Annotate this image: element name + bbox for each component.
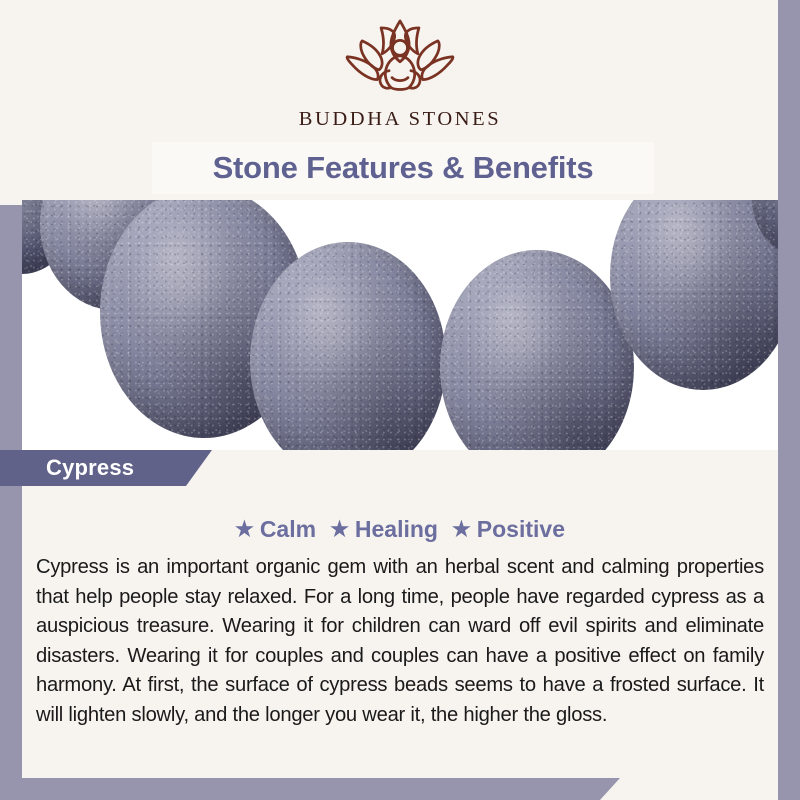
keyword-label: Calm xyxy=(260,516,316,543)
bead xyxy=(440,250,634,450)
keyword-label: Positive xyxy=(477,516,565,543)
keyword-calm: ★ Calm xyxy=(235,516,316,543)
frame-bar-bottom xyxy=(0,778,620,800)
page-title: Stone Features & Benefits xyxy=(213,150,594,186)
body-section: ★ Calm ★ Healing ★ Positive Cypress is a… xyxy=(22,486,778,778)
frame-bar-left xyxy=(0,205,22,800)
star-icon: ★ xyxy=(452,519,471,540)
star-icon: ★ xyxy=(330,519,349,540)
frame-bar-right xyxy=(778,0,800,800)
star-icon: ★ xyxy=(235,519,254,540)
keyword-row: ★ Calm ★ Healing ★ Positive xyxy=(22,516,778,543)
keyword-healing: ★ Healing xyxy=(330,516,438,543)
poster-canvas: BUDDHA STONES Stone Features & Benefits … xyxy=(0,0,800,800)
lotus-meditation-figure-icon xyxy=(325,14,475,106)
brand-logo: BUDDHA STONES xyxy=(22,14,778,131)
keyword-positive: ★ Positive xyxy=(452,516,565,543)
stone-label: Cypress xyxy=(46,455,134,481)
keyword-label: Healing xyxy=(355,516,438,543)
stone-label-banner: Cypress xyxy=(0,450,212,486)
stone-description: Cypress is an important organic gem with… xyxy=(36,553,764,730)
product-photo xyxy=(22,200,778,450)
bead xyxy=(610,200,778,390)
brand-name: BUDDHA STONES xyxy=(299,108,502,131)
title-band: Stone Features & Benefits xyxy=(152,142,654,194)
